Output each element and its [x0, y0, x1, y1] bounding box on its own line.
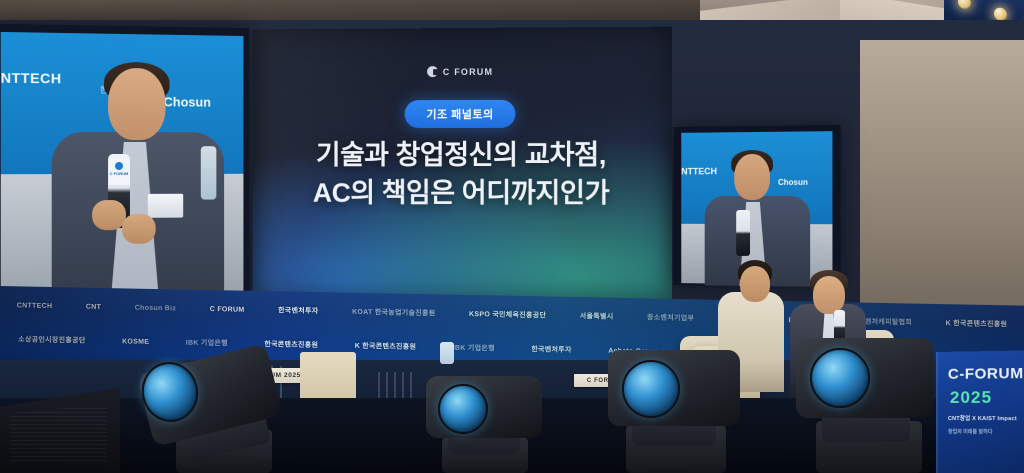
microphone-flag: C FORUM — [108, 159, 130, 185]
sponsor-logo: 한국벤처투자 — [513, 344, 590, 355]
projection-backdrop-logo-chosun: Chosun — [164, 94, 211, 109]
headline-line-2: AC의 책임은 어디까지인가 — [268, 174, 656, 213]
sponsor-logo: KOAT 한국농업기술진흥원 — [335, 306, 452, 318]
sponsor-logo: 한국벤처투자 — [261, 305, 335, 316]
sponsor-logo: K 한국콘텐츠진흥원 — [336, 340, 434, 352]
sponsor-logo: C FORUM — [193, 305, 261, 313]
moderator-head — [740, 266, 770, 302]
side-backdrop-logo-chosun: Chosun — [778, 178, 808, 187]
c-forum-mark-icon — [427, 66, 438, 77]
wall-right-panel — [860, 40, 1024, 340]
main-led-screen: C FORUM 기조 패널토의 기술과 창업정신의 교차점, AC의 책임은 어… — [252, 27, 672, 300]
projected-speaker-hand — [92, 200, 126, 230]
sponsor-logo: KOSME — [104, 337, 168, 345]
sponsor-logo: Chosun Biz — [118, 304, 193, 312]
sponsor-logo: 중소벤처기업부 — [630, 312, 711, 324]
sponsor-logo: CNTTECH — [0, 302, 69, 310]
projection-backdrop-logo-cnttech: NTTECH — [1, 70, 62, 87]
side-backdrop-logo-cnttech: NTTECH — [681, 166, 717, 176]
sponsor-logo: KSPO 국민체육진흥공단 — [452, 309, 563, 321]
headline-line-1: 기술과 창업정신의 교차점, — [316, 140, 606, 170]
stage-monitor-grill — [10, 404, 106, 462]
speaker-head — [813, 276, 845, 314]
water-bottle — [440, 342, 454, 364]
sponsor-logo: 소상공인시장진흥공단 — [0, 334, 104, 346]
banner-title: C-FORUM — [948, 365, 1024, 383]
screen-brand-text: C FORUM — [443, 66, 493, 76]
truss-lamp-icon — [958, 0, 971, 10]
side-microphone — [736, 210, 750, 256]
keynote-badge: 기조 패널토의 — [405, 100, 516, 128]
stage-moving-light — [416, 374, 566, 473]
sponsor-logo: 서울특별시 — [563, 311, 630, 322]
stage-moving-light — [136, 352, 336, 473]
screen-headline: 기술과 창업정신의 교차점, AC의 책임은 어디까지인가 — [252, 136, 672, 213]
conference-stage-photo: C FORUM 기조 패널토의 기술과 창업정신의 교차점, AC의 책임은 어… — [0, 0, 1024, 473]
light-lens — [438, 384, 488, 434]
light-lens — [810, 348, 870, 408]
sponsor-logo: CNT — [69, 303, 118, 311]
stage-moving-light — [596, 346, 766, 473]
projected-speaker-head — [108, 68, 165, 140]
light-lens — [622, 360, 680, 418]
left-projection-screen: NTTECH 한국 벤처 Chosun C FORUM — [0, 24, 249, 301]
side-speaker-head — [734, 154, 770, 200]
water-bottle — [201, 146, 217, 199]
sponsor-logo: K 한국콘텐츠진흥원 — [929, 318, 1024, 330]
projected-speaker-hand — [122, 214, 156, 244]
sponsor-logo: IBK 기업은행 — [167, 337, 246, 349]
name-badge — [148, 194, 183, 218]
screen-brand-logo: C FORUM — [252, 65, 672, 78]
stage-moving-light — [782, 332, 958, 473]
banner-subtitle: CNT창업 X KAIST Impact — [948, 414, 1017, 422]
